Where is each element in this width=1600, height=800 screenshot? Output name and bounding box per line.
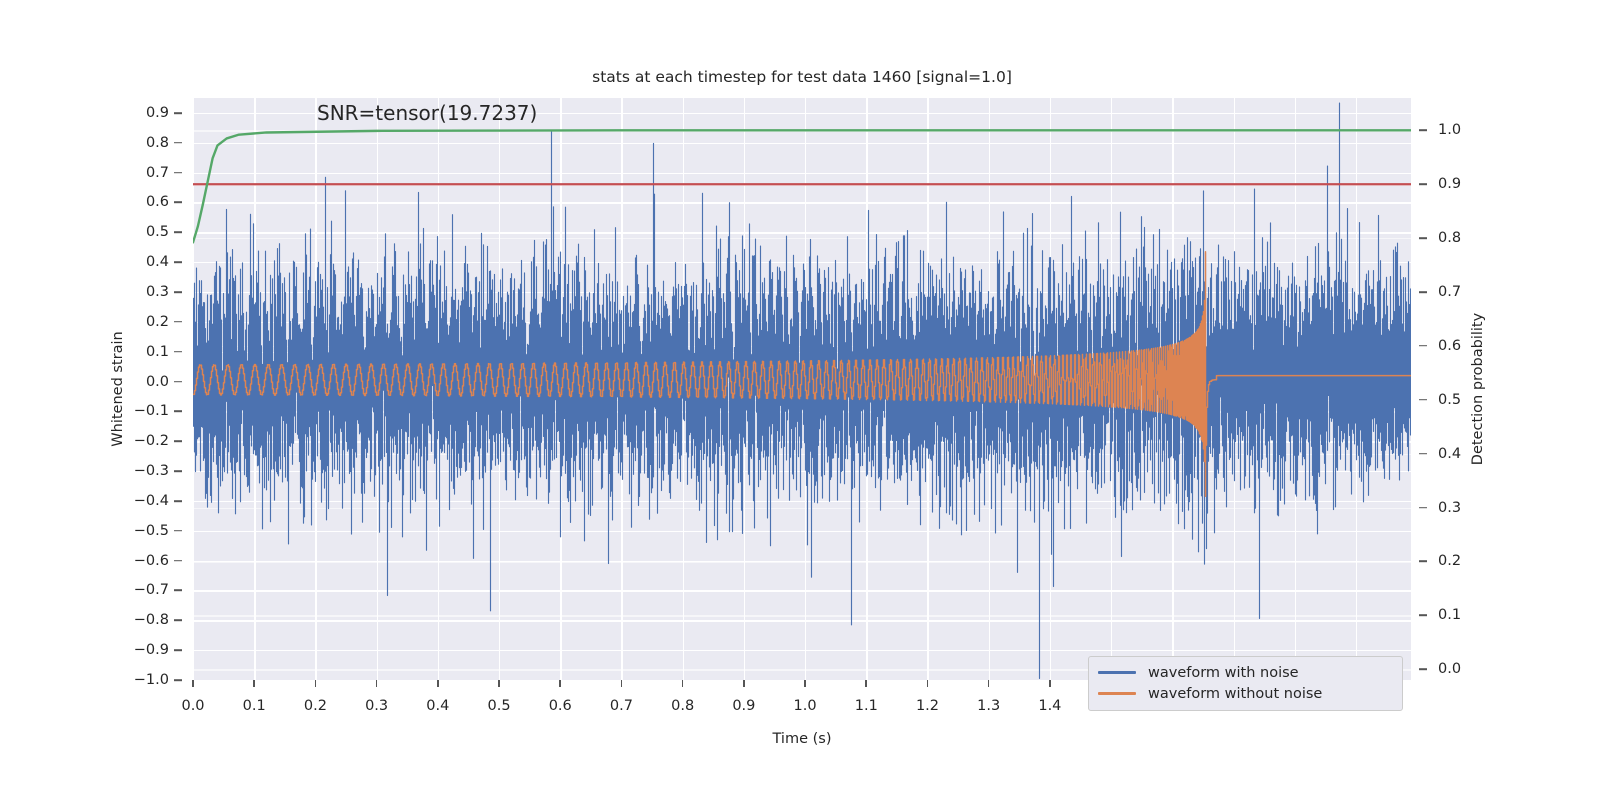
y-axis-right-tick-label: 0.3 bbox=[1438, 500, 1461, 516]
y-axis-right: 1.00.90.80.70.60.50.40.30.20.10.0 bbox=[1411, 98, 1600, 680]
detection-probability-trace bbox=[193, 130, 1411, 242]
x-axis-tick-label: 1.3 bbox=[977, 698, 1000, 714]
y-axis-right-tick-mark bbox=[1419, 561, 1427, 563]
x-axis-tick-label: 0.8 bbox=[671, 698, 694, 714]
y-axis-left-tick-mark bbox=[174, 261, 182, 263]
plot-area bbox=[193, 98, 1411, 680]
y-axis-right-tick-mark bbox=[1419, 291, 1427, 293]
y-axis-left-tick-mark bbox=[174, 440, 182, 442]
x-axis-tick-mark bbox=[988, 680, 990, 687]
y-axis-left-tick-label: 0.4 bbox=[146, 254, 169, 270]
x-axis-tick-mark bbox=[498, 680, 500, 687]
x-axis-tick-mark bbox=[621, 680, 623, 687]
y-axis-left-tick-label: 0.5 bbox=[146, 224, 169, 240]
y-axis-left-tick-mark bbox=[174, 679, 182, 681]
x-axis-tick-label: 1.2 bbox=[916, 698, 939, 714]
y-axis-left-tick-mark bbox=[174, 620, 182, 622]
y-axis-right-tick-mark bbox=[1419, 507, 1427, 509]
y-axis-left-tick-mark bbox=[174, 381, 182, 383]
y-axis-right-tick-label: 0.0 bbox=[1438, 661, 1461, 677]
y-axis-left-tick-mark bbox=[174, 530, 182, 532]
y-axis-left: 0.90.80.70.60.50.40.30.20.10.0−0.1−0.2−0… bbox=[0, 98, 188, 680]
x-axis-tick-mark bbox=[559, 680, 561, 687]
y-axis-left-tick-label: −0.8 bbox=[134, 612, 169, 628]
y-axis-right-tick-label: 0.4 bbox=[1438, 446, 1461, 462]
y-axis-left-tick-mark bbox=[174, 321, 182, 323]
y-axis-left-tick-mark bbox=[174, 470, 182, 472]
y-axis-left-tick-mark bbox=[174, 411, 182, 413]
y-axis-left-tick-label: −0.5 bbox=[134, 523, 169, 539]
y-axis-right-tick-label: 0.8 bbox=[1438, 230, 1461, 246]
y-axis-left-tick-mark bbox=[174, 500, 182, 502]
x-axis-tick-mark bbox=[192, 680, 194, 687]
snr-annotation: SNR=tensor(19.7237) bbox=[317, 101, 537, 125]
y-axis-left-tick-label: 0.6 bbox=[146, 194, 169, 210]
legend-item[interactable]: waveform with noise bbox=[1098, 662, 1393, 683]
y-axis-right-tick-mark bbox=[1419, 237, 1427, 239]
y-axis-left-tick-mark bbox=[174, 202, 182, 204]
legend-label: waveform with noise bbox=[1148, 665, 1299, 681]
x-axis-tick-mark bbox=[804, 680, 806, 687]
y-axis-left-tick-label: −0.3 bbox=[134, 463, 169, 479]
y-axis-left-label: Whitened strain bbox=[110, 331, 126, 446]
y-axis-right-tick-label: 0.6 bbox=[1438, 338, 1461, 354]
y-axis-right-tick-label: 1.0 bbox=[1438, 122, 1461, 138]
x-axis-tick-label: 0.5 bbox=[487, 698, 510, 714]
y-axis-left-tick-label: −0.9 bbox=[134, 642, 169, 658]
y-axis-right-tick-mark bbox=[1419, 183, 1427, 185]
y-axis-left-tick-mark bbox=[174, 351, 182, 353]
x-axis-tick-mark bbox=[1049, 680, 1051, 687]
x-axis-tick-label: 0.6 bbox=[549, 698, 572, 714]
y-axis-left-tick-label: −0.4 bbox=[134, 493, 169, 509]
y-axis-left-tick-mark bbox=[174, 560, 182, 562]
y-axis-right-tick-label: 0.9 bbox=[1438, 176, 1461, 192]
x-axis-tick-mark bbox=[437, 680, 439, 687]
y-axis-left-tick-label: 0.1 bbox=[146, 344, 169, 360]
x-axis-tick-label: 0.9 bbox=[732, 698, 755, 714]
y-axis-left-tick-label: 0.8 bbox=[146, 135, 169, 151]
x-axis-tick-label: 0.7 bbox=[610, 698, 633, 714]
y-axis-left-tick-label: 0.0 bbox=[146, 374, 169, 390]
x-axis-label: Time (s) bbox=[773, 731, 832, 747]
legend-item[interactable]: waveform without noise bbox=[1098, 683, 1393, 704]
x-axis-tick-label: 0.0 bbox=[181, 698, 204, 714]
y-axis-left-tick-mark bbox=[174, 291, 182, 293]
y-axis-right-tick-label: 0.7 bbox=[1438, 284, 1461, 300]
chart-traces bbox=[193, 98, 1411, 680]
y-axis-right-tick-mark bbox=[1419, 345, 1427, 347]
x-axis-tick-label: 0.4 bbox=[426, 698, 449, 714]
x-axis-tick-label: 0.3 bbox=[365, 698, 388, 714]
x-axis-tick-mark bbox=[682, 680, 684, 687]
x-axis-tick-label: 0.2 bbox=[304, 698, 327, 714]
y-axis-left-tick-label: −0.6 bbox=[134, 553, 169, 569]
y-axis-left-tick-label: −0.2 bbox=[134, 433, 169, 449]
x-axis-tick-mark bbox=[865, 680, 867, 687]
page-title: stats at each timestep for test data 146… bbox=[193, 68, 1411, 86]
y-axis-left-tick-mark bbox=[174, 142, 182, 144]
x-axis-tick-mark bbox=[315, 680, 317, 687]
y-axis-left-tick-mark bbox=[174, 172, 182, 174]
chart-figure: stats at each timestep for test data 146… bbox=[0, 0, 1600, 800]
x-axis-tick-mark bbox=[253, 680, 255, 687]
x-axis-tick-label: 1.4 bbox=[1038, 698, 1061, 714]
y-axis-left-tick-label: 0.9 bbox=[146, 105, 169, 121]
y-axis-left-tick-mark bbox=[174, 232, 182, 234]
x-axis-tick-mark bbox=[927, 680, 929, 687]
legend-swatch bbox=[1098, 671, 1136, 674]
y-axis-right-label: Detection probability bbox=[1470, 313, 1486, 465]
y-axis-right-tick-mark bbox=[1419, 615, 1427, 617]
y-axis-right-tick-mark bbox=[1419, 668, 1427, 670]
y-axis-left-tick-mark bbox=[174, 649, 182, 651]
x-axis-tick-mark bbox=[376, 680, 378, 687]
y-axis-left-tick-mark bbox=[174, 590, 182, 592]
legend-label: waveform without noise bbox=[1148, 686, 1322, 702]
y-axis-right-tick-mark bbox=[1419, 130, 1427, 132]
y-axis-left-tick-mark bbox=[174, 112, 182, 114]
x-axis-tick-mark bbox=[743, 680, 745, 687]
legend-swatch bbox=[1098, 692, 1136, 695]
x-axis-tick-label: 0.1 bbox=[243, 698, 266, 714]
y-axis-right-tick-label: 0.1 bbox=[1438, 607, 1461, 623]
y-axis-right-tick-mark bbox=[1419, 399, 1427, 401]
chart-legend: waveform with noisewaveform without nois… bbox=[1088, 656, 1403, 711]
y-axis-left-tick-label: −1.0 bbox=[134, 672, 169, 688]
y-axis-right-tick-mark bbox=[1419, 453, 1427, 455]
y-axis-left-tick-label: −0.7 bbox=[134, 582, 169, 598]
y-axis-left-tick-label: −0.1 bbox=[134, 403, 169, 419]
y-axis-right-tick-label: 0.5 bbox=[1438, 392, 1461, 408]
x-axis-tick-label: 1.0 bbox=[794, 698, 817, 714]
y-axis-left-tick-label: 0.7 bbox=[146, 165, 169, 181]
y-axis-right-tick-label: 0.2 bbox=[1438, 553, 1461, 569]
x-axis-tick-label: 1.1 bbox=[855, 698, 878, 714]
y-axis-left-tick-label: 0.3 bbox=[146, 284, 169, 300]
y-axis-left-tick-label: 0.2 bbox=[146, 314, 169, 330]
